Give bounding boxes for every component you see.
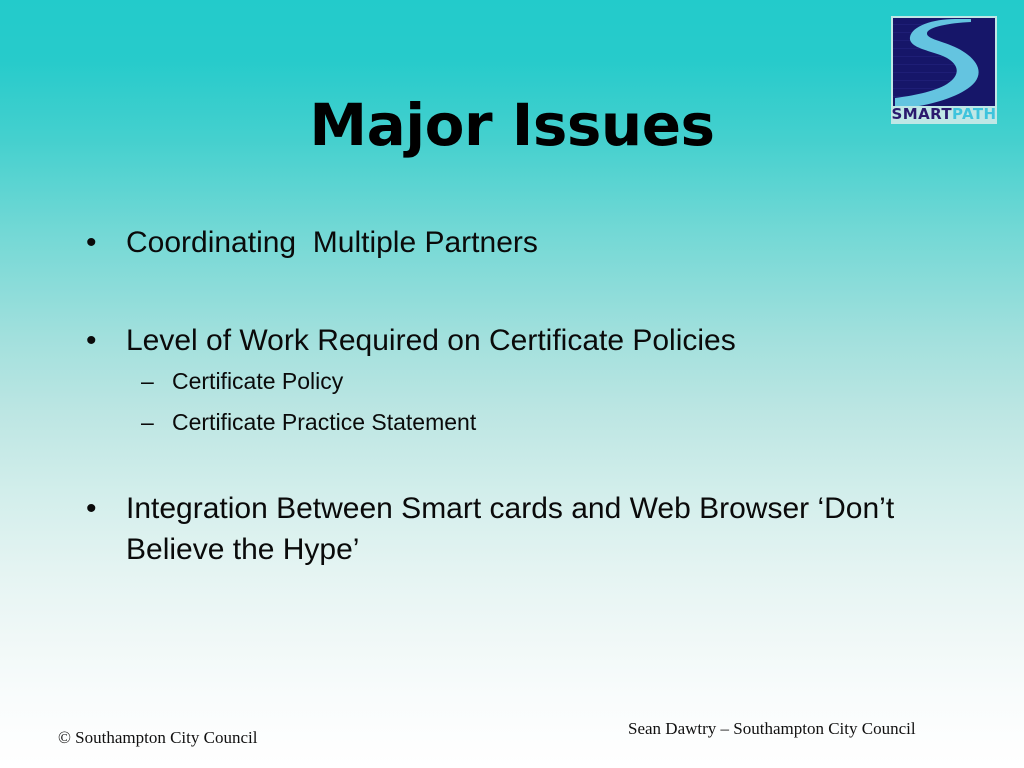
subbullet-text: Certificate Practice Statement <box>172 409 476 435</box>
bullet-marker: • <box>86 320 97 361</box>
presentation-slide: SMARTPATH Major Issues • Coordinating Mu… <box>0 0 1024 768</box>
bullet-item-3: • Integration Between Smart cards and We… <box>72 488 952 570</box>
bullet-spacer <box>72 443 952 488</box>
subbullet-text: Certificate Policy <box>172 368 343 394</box>
slide-body: • Coordinating Multiple Partners • Level… <box>72 222 952 570</box>
bullet-item-1: • Coordinating Multiple Partners <box>72 222 952 263</box>
bullet-spacer <box>72 263 952 320</box>
bullet-marker: • <box>86 488 97 529</box>
bullet-marker: • <box>86 222 97 263</box>
subbullet-marker: – <box>141 361 154 402</box>
slide-title: Major Issues <box>0 93 1024 157</box>
footer-author: Sean Dawtry – Southampton City Council <box>628 719 916 739</box>
bullet-item-2: • Level of Work Required on Certificate … <box>72 320 952 361</box>
footer-copyright: © Southampton City Council <box>58 728 257 748</box>
subbullet-item-1: – Certificate Policy <box>72 361 952 402</box>
bullet-text: Integration Between Smart cards and Web … <box>126 488 952 570</box>
bullet-text: Level of Work Required on Certificate Po… <box>126 320 952 361</box>
bullet-text: Coordinating Multiple Partners <box>126 222 952 263</box>
subbullet-item-2: – Certificate Practice Statement <box>72 402 952 443</box>
subbullet-marker: – <box>141 402 154 443</box>
